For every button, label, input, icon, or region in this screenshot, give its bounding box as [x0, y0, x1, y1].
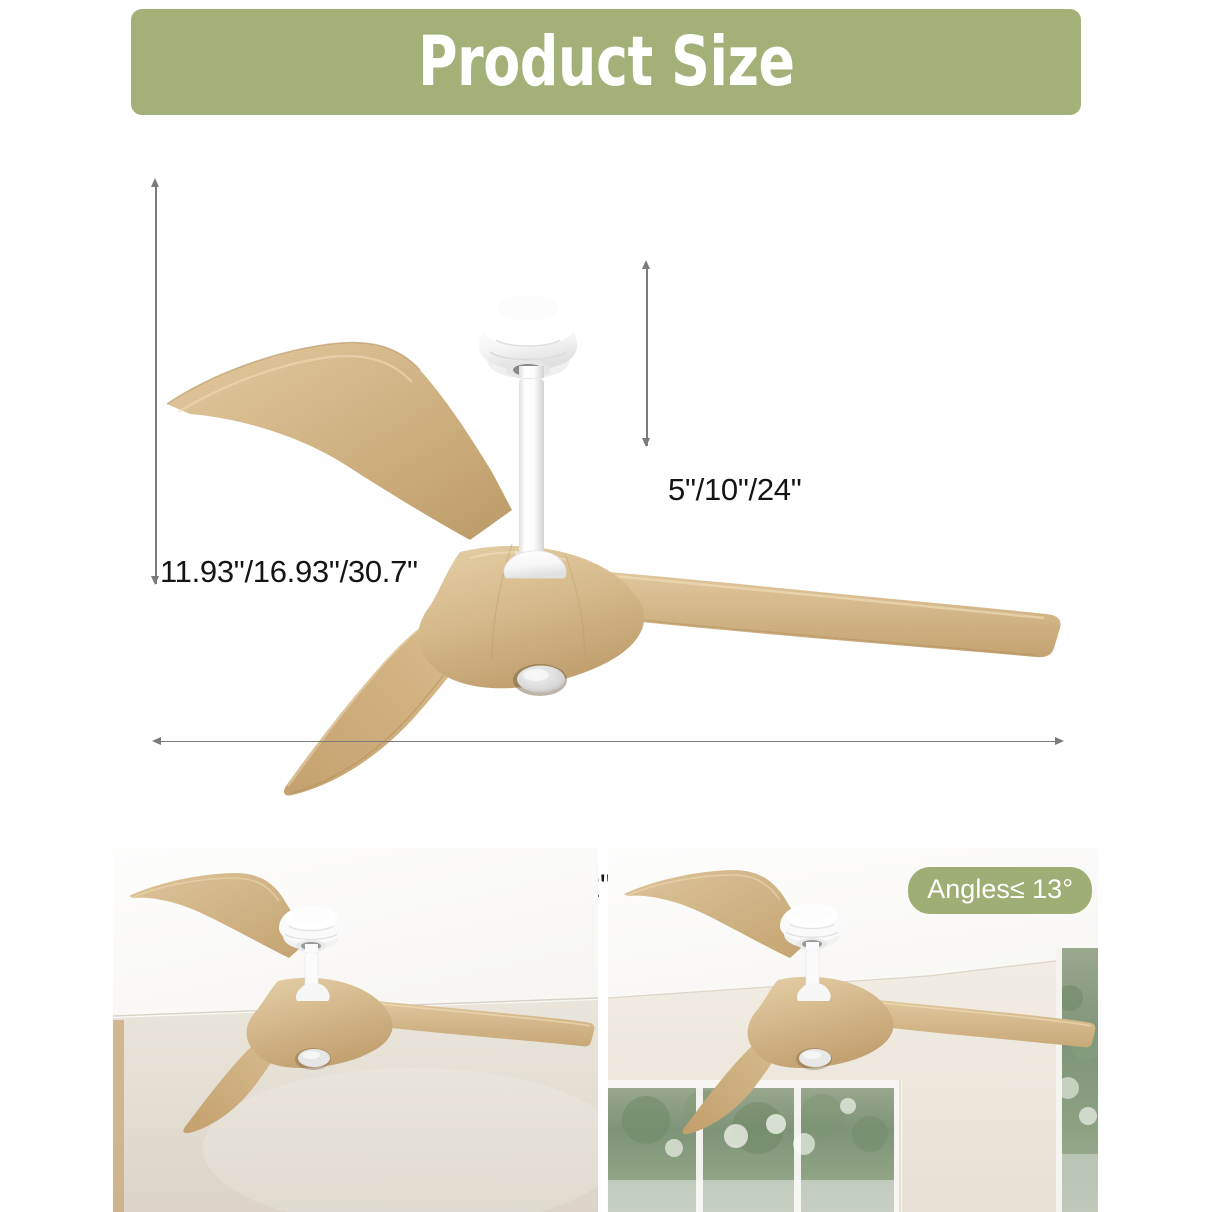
- dimension-label-overall-height: 11.93"/16.93"/30.7": [160, 554, 418, 590]
- ceiling-canopy: [479, 295, 577, 379]
- angle-limit-badge: Angles≤ 13°: [908, 867, 1092, 914]
- arrow-head-rod-top: [642, 260, 650, 269]
- dimension-label-downrod: 5"/10"/24": [668, 472, 801, 508]
- arrow-head-right: [1055, 737, 1064, 745]
- product-photo-living-room[interactable]: Angles≤ 13°: [608, 848, 1098, 1212]
- product-photo-bedroom[interactable]: [113, 848, 598, 1212]
- product-size-header-banner: Product Size: [131, 9, 1081, 115]
- dimension-line-height: [155, 186, 157, 584]
- arrow-head-top: [151, 178, 159, 187]
- arrow-head-rod-bottom: [642, 438, 650, 447]
- arrow-head-bottom: [151, 576, 159, 585]
- ceiling-fan-illustration: [0, 120, 1212, 820]
- dimension-line-rod: [646, 268, 648, 446]
- window-right: [1056, 948, 1098, 1212]
- window-lower-left: [608, 1080, 902, 1212]
- fan-blade-upper-left: [167, 342, 512, 540]
- arrow-head-left: [152, 737, 161, 745]
- ceiling-fan-dimension-diagram: 11.93"/16.93"/30.7" 5"/10"/24" 52": [0, 120, 1212, 820]
- photo-left-scene: [113, 848, 598, 1212]
- page-title: Product Size: [418, 28, 795, 97]
- product-photo-gallery: Angles≤ 13°: [113, 848, 1098, 1212]
- dimension-line-width: [160, 741, 1055, 743]
